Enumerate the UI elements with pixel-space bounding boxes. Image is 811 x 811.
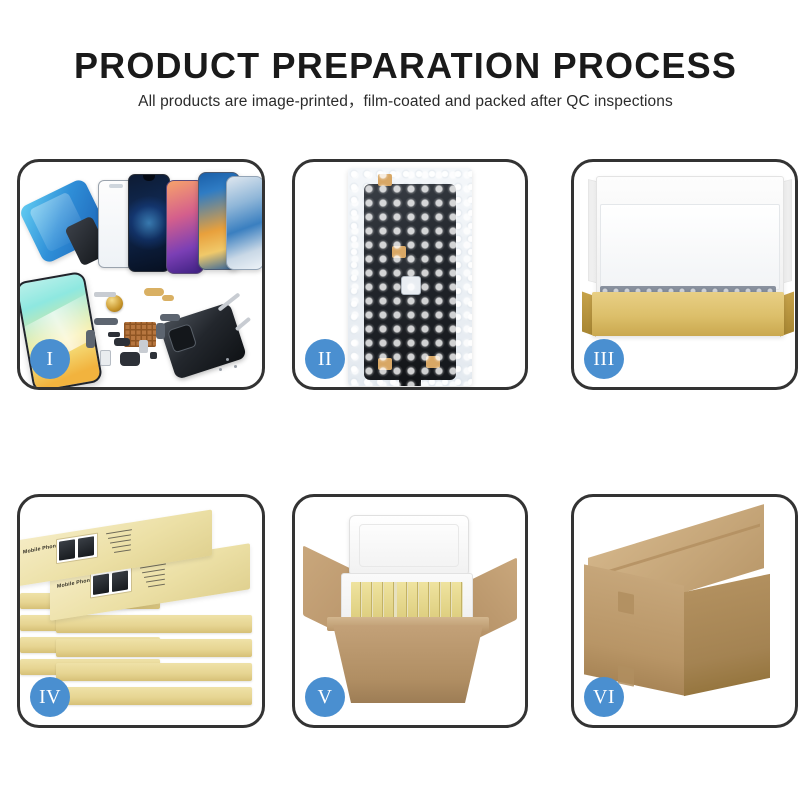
flex-cable-b-icon: [86, 330, 95, 348]
lcd-screen-icon: [364, 184, 456, 380]
spec-line-7: [108, 534, 131, 539]
small-part-b-icon: [150, 352, 157, 359]
speaker-module-icon: [106, 295, 123, 312]
spec-line-10: [114, 549, 131, 553]
phone-silver-icon: [226, 176, 264, 270]
tape-bottom-right-icon: [426, 356, 440, 368]
kraft-tray-icon: [592, 292, 784, 336]
box-window-screen-b: [112, 570, 128, 592]
process-step-panel-3[interactable]: III: [571, 159, 798, 390]
spec-line-5: [148, 584, 165, 588]
screw-c-icon: [219, 368, 222, 371]
lcd-connector-icon: [401, 276, 421, 295]
box-window-screen-d: [78, 536, 94, 558]
carton-front-face-icon: [584, 564, 684, 695]
flex-cable-c-icon: [160, 314, 180, 321]
spec-line-4: [146, 579, 165, 583]
process-step-grid: I II: [0, 0, 811, 811]
box-window-upper: [56, 533, 98, 565]
gold-flex-icon: [144, 288, 164, 296]
foam-sheet-icon: [600, 204, 780, 290]
tape-top-icon: [378, 174, 392, 186]
flex-cable-d-icon: [156, 323, 165, 339]
flex-cable-a-icon: [94, 318, 118, 325]
step-badge-2: II: [305, 339, 345, 379]
spec-line-2: [142, 569, 165, 574]
sim-tray-icon: [100, 350, 111, 366]
stacked-box-front-4: [56, 687, 252, 705]
process-step-panel-1[interactable]: I: [17, 159, 265, 390]
step-badge-6: VI: [584, 677, 624, 717]
phone-dark-screen-icon: [128, 174, 170, 272]
step-badge-5: V: [305, 677, 345, 717]
tape-bottom-left-icon: [378, 358, 392, 370]
step-badge-1: I: [30, 339, 70, 379]
camera-module-icon: [120, 352, 140, 366]
screw-b-icon: [234, 365, 237, 368]
stacked-box-front-2: [56, 639, 252, 657]
step-badge-4: IV: [30, 677, 70, 717]
process-step-panel-4[interactable]: Mobile Phone Spare Parts Mobile Phone Sp…: [17, 494, 265, 728]
carton-tape-upper-icon: [618, 591, 634, 614]
step-badge-3: III: [584, 339, 624, 379]
box-window-screen-c: [59, 539, 75, 561]
screw-a-icon: [226, 358, 229, 361]
vibrator-motor-icon: [114, 338, 130, 346]
small-part-a-icon: [108, 332, 120, 337]
spec-line-9: [112, 544, 131, 548]
process-step-panel-5[interactable]: V: [292, 494, 528, 728]
spec-line-3: [144, 574, 165, 579]
stacked-box-front-1: [56, 615, 252, 633]
styrofoam-lid-icon: [349, 515, 469, 577]
carton-side-face-icon: [684, 574, 770, 696]
process-step-panel-6[interactable]: VI: [571, 494, 798, 728]
bubble-wrap-bag-icon: [348, 168, 472, 386]
antenna-strip-icon: [94, 292, 116, 297]
stacked-box-front-3: [56, 663, 252, 681]
process-step-panel-2[interactable]: II: [292, 159, 528, 390]
box-window-screen-a: [93, 573, 109, 595]
battery-connector-icon: [139, 340, 148, 353]
gold-connector-icon: [162, 295, 174, 301]
screwdriver-tool-icon: [235, 317, 251, 332]
spec-line-8: [110, 539, 131, 544]
carton-body-icon: [333, 625, 483, 703]
tape-mid-icon: [392, 246, 406, 258]
carton-tape-lower-icon: [618, 665, 634, 686]
